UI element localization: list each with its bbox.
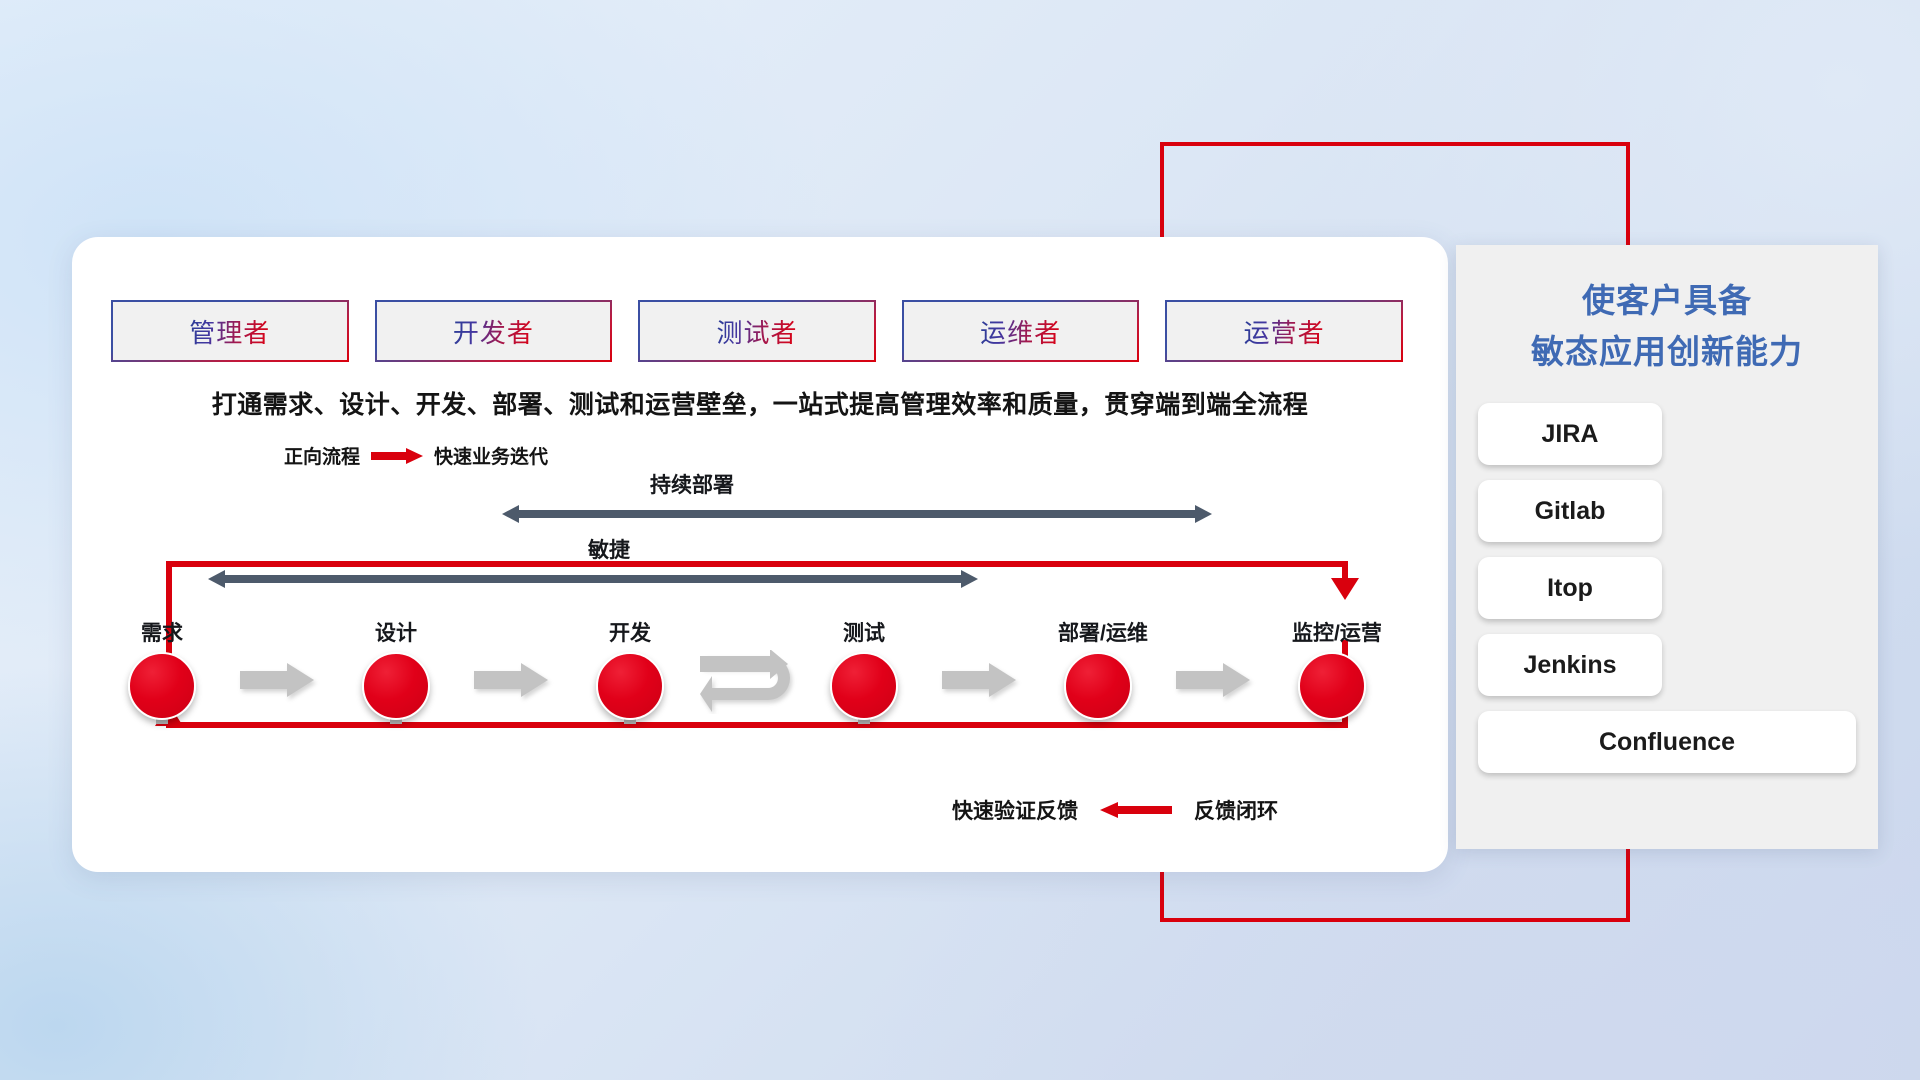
span-label-agile: 敏捷 <box>588 534 630 564</box>
chevron-tip <box>989 663 1016 697</box>
tool-button-gitlab[interactable]: Gitlab <box>1478 480 1662 542</box>
chevron-shaft <box>942 671 990 689</box>
role-label: 运维者 <box>980 313 1061 350</box>
chevron-arrow-test-to-deploy-icon <box>942 663 1016 697</box>
role-box-manager[interactable]: 管理者 <box>111 300 349 362</box>
chevron-shaft <box>240 671 288 689</box>
stage-label: 需求 <box>122 617 202 647</box>
forward-flow-left-label: 正向流程 <box>284 442 360 469</box>
arrow-head-right <box>1195 505 1212 523</box>
arrow-head-left <box>502 505 519 523</box>
tool-button-itop[interactable]: Itop <box>1478 557 1662 619</box>
stage-dot-icon <box>830 652 898 720</box>
role-label: 测试者 <box>716 313 797 350</box>
chevron-tip <box>1223 663 1250 697</box>
main-diagram-card: 管理者 开发者 测试者 运维者 运营者 打通需求、设计、开发、部署、测试和运营壁… <box>72 237 1448 872</box>
feedback-left-label: 快速验证反馈 <box>952 795 1078 825</box>
stage-dot-icon <box>128 652 196 720</box>
stage-node-monitor-operate[interactable]: 监控/运营 <box>1292 617 1372 720</box>
arrow-bar <box>224 575 962 583</box>
tool-button-jenkins[interactable]: Jenkins <box>1478 634 1662 696</box>
stage-dot-icon <box>596 652 664 720</box>
loop-arrow-head-down-icon <box>1331 578 1359 600</box>
tool-button-confluence[interactable]: Confluence <box>1478 711 1856 773</box>
loopback-arrow-development-test-icon <box>700 650 810 714</box>
stage-label: 部署/运维 <box>1058 617 1138 647</box>
role-label: 运营者 <box>1244 313 1325 350</box>
chevron-tip <box>287 663 314 697</box>
stage-node-test[interactable]: 测试 <box>824 617 904 720</box>
role-label: 开发者 <box>453 313 534 350</box>
stage-label: 测试 <box>824 617 904 647</box>
stage-dot-icon <box>1298 652 1366 720</box>
stage-label: 设计 <box>356 617 436 647</box>
role-box-row: 管理者 开发者 测试者 运维者 运营者 <box>111 300 1403 362</box>
stage-dot-icon <box>1064 652 1132 720</box>
tagline-text: 打通需求、设计、开发、部署、测试和运营壁垒，一站式提高管理效率和质量，贯穿端到端… <box>72 385 1448 421</box>
chevron-arrow-deploy-to-monitor-icon <box>1176 663 1250 697</box>
forward-flow-caption: 正向流程 快速业务迭代 <box>284 442 548 469</box>
role-box-operator[interactable]: 运营者 <box>1165 300 1403 362</box>
arrow-left-red-icon <box>1100 802 1172 818</box>
role-box-tester[interactable]: 测试者 <box>638 300 876 362</box>
arrow-right-red-icon <box>371 448 423 464</box>
role-box-developer[interactable]: 开发者 <box>375 300 613 362</box>
role-box-ops[interactable]: 运维者 <box>902 300 1140 362</box>
stage-node-development[interactable]: 开发 <box>590 617 670 720</box>
tool-button-grid: JIRA Gitlab Itop Jenkins Confluence <box>1478 403 1856 773</box>
span-label-continuous-deployment: 持续部署 <box>650 469 734 499</box>
stage-dot-icon <box>362 652 430 720</box>
chevron-arrow-requirement-to-design-icon <box>240 663 314 697</box>
stage-node-deploy-ops[interactable]: 部署/运维 <box>1058 617 1138 720</box>
forward-flow-right-label: 快速业务迭代 <box>434 442 548 469</box>
feedback-caption: 快速验证反馈 反馈闭环 <box>952 795 1278 825</box>
continuous-deployment-double-arrow-icon <box>502 505 1212 523</box>
feedback-right-label: 反馈闭环 <box>1194 795 1278 825</box>
panel-title: 使客户具备 敏态应用创新能力 <box>1478 275 1856 377</box>
arrow-head-right <box>961 570 978 588</box>
chevron-shaft <box>1176 671 1224 689</box>
capability-panel: 使客户具备 敏态应用创新能力 JIRA Gitlab Itop Jenkins … <box>1456 245 1878 849</box>
tool-button-jira[interactable]: JIRA <box>1478 403 1662 465</box>
panel-title-line-2: 敏态应用创新能力 <box>1478 326 1856 377</box>
loop-line-bottom <box>166 722 1348 728</box>
stage-label: 开发 <box>590 617 670 647</box>
agile-double-arrow-icon <box>208 570 978 588</box>
stage-node-requirement[interactable]: 需求 <box>122 617 202 720</box>
stage-node-design[interactable]: 设计 <box>356 617 436 720</box>
chevron-arrow-design-to-development-icon <box>474 663 548 697</box>
arrow-head-left <box>208 570 225 588</box>
role-label: 管理者 <box>189 313 270 350</box>
stage-label: 监控/运营 <box>1292 617 1372 647</box>
panel-title-line-1: 使客户具备 <box>1478 275 1856 326</box>
loop-line-top <box>166 561 1348 567</box>
chevron-shaft <box>474 671 522 689</box>
arrow-bar <box>518 510 1196 518</box>
chevron-tip <box>521 663 548 697</box>
